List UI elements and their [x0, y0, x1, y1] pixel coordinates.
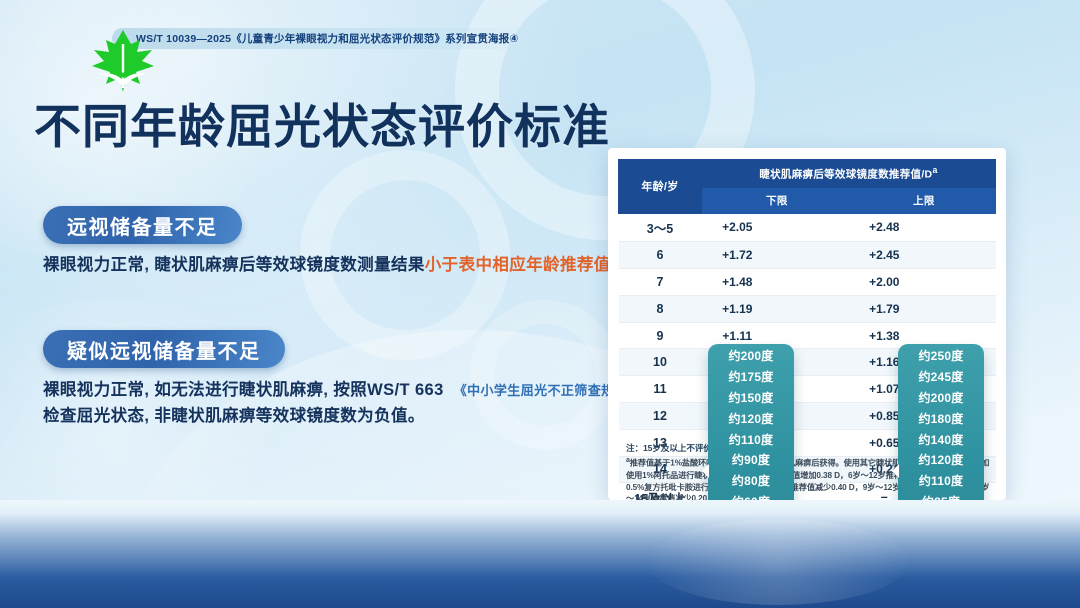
- table-row: 3～5+2.05约200度+2.48约250度: [619, 213, 996, 242]
- col-header-upper-limit: 上限: [852, 187, 995, 213]
- cell-age: 3～5: [619, 213, 702, 242]
- page-title: 不同年龄屈光状态评价标准: [34, 88, 610, 157]
- table-row: 6+1.72约175度+2.45约245度: [619, 242, 996, 269]
- teal-cell-lower-degree: 约90度: [708, 450, 794, 471]
- table-row: 7+1.48约150度+2.00约200度: [619, 269, 996, 296]
- cell-upper-degree: 约245度: [916, 242, 995, 269]
- poster-canvas: WS/T 10039—2025《儿童青少年裸眼视力和屈光状态评价规范》系列宣贯海…: [0, 0, 1080, 608]
- cell-upper-diopter: +2.00: [852, 269, 916, 296]
- badge-insufficient-hyperopia-reserve: 远视储备量不足: [43, 206, 242, 244]
- teal-cell-upper-degree: 约85度: [898, 492, 984, 500]
- teal-column-upper-degrees: 约250度约245度约200度约180度约140度约120度约110度约85度约…: [898, 344, 984, 500]
- cell-lower-degree: 约150度: [773, 269, 852, 296]
- paragraph-insufficient-reserve: 裸眼视力正常, 睫状肌麻痹后等效球镜度数测量结果小于表中相应年龄推荐值下限。: [43, 253, 661, 279]
- ribbon-text: WS/T 10039—2025《儿童青少年裸眼视力和屈光状态评价规范》系列宣贯海…: [136, 31, 519, 46]
- cell-upper-diopter: +2.48: [852, 213, 916, 242]
- cell-lower-diopter: +1.19: [701, 295, 773, 322]
- teal-column-notch-icon: [892, 464, 899, 478]
- teal-cell-lower-degree: 约110度: [708, 430, 794, 451]
- col-header-recommended-se-sup: a: [932, 165, 937, 175]
- table-head: 年龄/岁 睫状肌麻痹后等效球镜度数推荐值/Da 下限 上限: [619, 160, 996, 214]
- refraction-standard-table-card: 年龄/岁 睫状肌麻痹后等效球镜度数推荐值/Da 下限 上限 3～5+2.05约2…: [608, 148, 1006, 500]
- cell-upper-degree: 约180度: [916, 295, 995, 322]
- cell-age: 10: [619, 349, 702, 376]
- table-row: 8+1.19约120度+1.79约180度: [619, 295, 996, 322]
- teal-cell-lower-degree: 约150度: [708, 388, 794, 409]
- teal-column-lower-degrees: 约200度约175度约150度约120度约110度约90度约80度约60度约25…: [708, 344, 794, 500]
- teal-cell-upper-degree: 约120度: [898, 450, 984, 471]
- teal-cell-upper-degree: 约250度: [898, 346, 984, 367]
- badge-suspected-insufficient-reserve: 疑似远视储备量不足: [43, 330, 285, 368]
- bottom-blue-band: [0, 500, 1080, 608]
- para1-text-before: 裸眼视力正常, 睫状肌麻痹后等效球镜度数测量结果: [43, 256, 425, 274]
- teal-cell-upper-degree: 约140度: [898, 430, 984, 451]
- cell-upper-degree: 约250度: [916, 213, 995, 242]
- cell-upper-diopter: +1.79: [852, 295, 916, 322]
- teal-cell-upper-degree: 约200度: [898, 388, 984, 409]
- teal-cell-lower-degree: 约60度: [708, 492, 794, 500]
- para2-line2: 检查屈光状态, 非睫状肌麻痹等效球镜度数为负值。: [43, 404, 641, 430]
- cell-lower-degree: 约175度: [773, 242, 852, 269]
- paragraph-suspected-reserve: 裸眼视力正常, 如无法进行睫状肌麻痹, 按照WS/T 663《中小学生屈光不正筛…: [43, 378, 641, 429]
- teal-cell-lower-degree: 约120度: [708, 409, 794, 430]
- para2-line1: 裸眼视力正常, 如无法进行睫状肌麻痹, 按照WS/T 663: [43, 381, 444, 399]
- cell-age: 12: [619, 402, 702, 429]
- cell-age: 8: [619, 295, 702, 322]
- col-header-recommended-se-text: 睫状肌麻痹后等效球镜度数推荐值/D: [759, 169, 932, 181]
- cell-age: 7: [619, 269, 702, 296]
- cell-age: 11: [619, 376, 702, 403]
- cell-lower-diopter: +1.72: [701, 242, 773, 269]
- cell-upper-diopter: +2.45: [852, 242, 916, 269]
- cell-age: 9: [619, 322, 702, 349]
- cell-lower-degree: 约120度: [773, 295, 852, 322]
- col-header-recommended-se: 睫状肌麻痹后等效球镜度数推荐值/Da: [701, 160, 995, 188]
- cell-upper-degree: 约200度: [916, 269, 995, 296]
- cell-lower-diopter: +2.05: [701, 213, 773, 242]
- badge2-label: 疑似远视储备量不足: [67, 335, 261, 364]
- teal-cell-upper-degree: 约110度: [898, 471, 984, 492]
- teal-cell-lower-degree: 约200度: [708, 346, 794, 367]
- teal-cell-lower-degree: 约80度: [708, 471, 794, 492]
- badge1-label: 远视储备量不足: [67, 211, 218, 240]
- cell-lower-diopter: +1.48: [701, 269, 773, 296]
- col-header-age: 年龄/岁: [619, 160, 702, 214]
- teal-cell-lower-degree: 约175度: [708, 367, 794, 388]
- cell-lower-degree: 约200度: [773, 213, 852, 242]
- teal-cell-upper-degree: 约180度: [898, 409, 984, 430]
- green-leaf-book-logo-icon: [88, 28, 158, 94]
- teal-cell-upper-degree: 约245度: [898, 367, 984, 388]
- ribbon-banner: WS/T 10039—2025《儿童青少年裸眼视力和屈光状态评价规范》系列宣贯海…: [112, 28, 533, 49]
- col-header-lower-limit: 下限: [701, 187, 852, 213]
- cell-age: 6: [619, 242, 702, 269]
- teal-column-notch-icon: [702, 464, 709, 478]
